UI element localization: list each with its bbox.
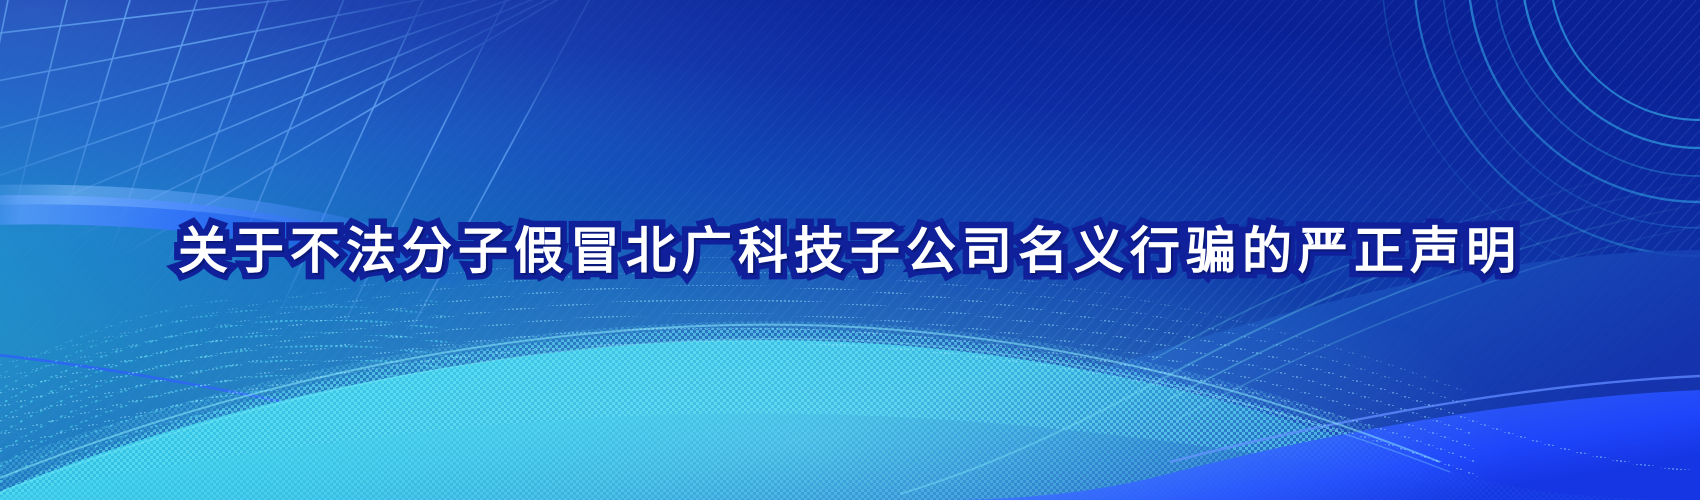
vignette-glow bbox=[0, 0, 1700, 500]
banner-root: 关于不法分子假冒北广科技子公司名义行骗的严正声明 bbox=[0, 0, 1700, 500]
